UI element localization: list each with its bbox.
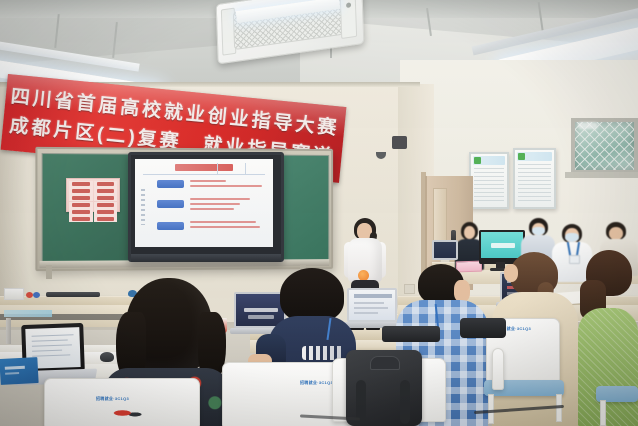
leaf-icon xyxy=(474,157,481,164)
attendee-green-top xyxy=(578,308,638,426)
attendee-cheek xyxy=(504,264,518,282)
blue-ball-marker xyxy=(33,292,40,298)
dark-bag-2 xyxy=(382,326,440,342)
wall-poster-1 xyxy=(469,152,509,209)
tablet-line xyxy=(32,334,74,336)
face-mask-icon xyxy=(565,233,579,242)
tablet-line xyxy=(32,344,72,346)
slide-text-line xyxy=(190,226,260,228)
dark-bag xyxy=(460,318,506,338)
slide-text-line xyxy=(190,203,240,205)
chair-back[interactable] xyxy=(492,348,504,390)
booklet-line xyxy=(5,372,19,375)
attendee-ear-cheek xyxy=(454,280,470,302)
judge-laptop-1[interactable] xyxy=(432,240,458,260)
slide-tag xyxy=(157,200,184,208)
wall-poster-2 xyxy=(513,148,556,209)
poster-text-block xyxy=(518,164,551,204)
blackboard-character-chart xyxy=(66,178,120,212)
judge-face xyxy=(464,226,475,239)
slide-text-line xyxy=(190,185,262,187)
blackboard-leg-left xyxy=(46,265,52,279)
slide-divider xyxy=(217,163,218,174)
backpack-handle xyxy=(370,356,400,370)
slide-title-bar xyxy=(175,164,233,171)
tablet-line xyxy=(32,339,68,341)
chair-logo-icon xyxy=(108,406,144,420)
face-mask-icon xyxy=(532,227,545,235)
interactive-whiteboard-screen[interactable] xyxy=(128,152,284,262)
chart-cell xyxy=(69,202,93,222)
whiteboard-slide-content xyxy=(135,159,273,247)
slide-tag xyxy=(157,180,184,188)
tablet-line xyxy=(32,350,62,352)
desk-label-sticker xyxy=(4,310,52,317)
chair-back-label: 招聘就业·3C1Q3 xyxy=(96,396,129,402)
attendee-hair xyxy=(280,268,344,322)
poster-text-block xyxy=(474,168,504,204)
chart-cell xyxy=(94,202,118,222)
whiteboard-bezel-bottom xyxy=(131,254,281,262)
leaf-icon xyxy=(518,153,525,160)
window-sill xyxy=(565,172,638,178)
classroom-photo-scene: 四川省首届高校就业创业指导大赛 成都片区(二)复赛就业指导赛道 xyxy=(0,0,638,426)
tissue-box xyxy=(4,288,24,300)
chair-leg xyxy=(600,400,606,426)
slide-rule xyxy=(143,174,265,175)
slide-divider xyxy=(245,163,246,174)
slide-text-line xyxy=(190,180,226,182)
slide-tag xyxy=(157,222,184,230)
slide-text-line xyxy=(190,198,250,200)
window-glare xyxy=(578,122,598,129)
monitor-screen-text xyxy=(491,243,515,248)
backpack-strap xyxy=(400,380,410,424)
booklet-title-line xyxy=(5,366,25,370)
desk-leg xyxy=(6,318,11,344)
blackboard-panel-right xyxy=(279,155,329,262)
chart-cell xyxy=(94,181,118,201)
wall-speaker-icon xyxy=(392,136,407,149)
keyboard-icon[interactable] xyxy=(46,292,100,297)
slide-text-line xyxy=(190,221,256,223)
slide-side-index xyxy=(141,189,145,225)
tablet-line xyxy=(32,354,70,356)
chart-cell xyxy=(69,181,93,201)
chair-back-label: 招聘就业·3C1Q3 xyxy=(300,380,333,386)
slide-text-line xyxy=(190,208,234,210)
blue-booklet xyxy=(0,357,39,385)
backpack xyxy=(346,350,422,426)
window-grille-icon xyxy=(575,122,634,170)
red-ball-marker xyxy=(26,292,33,298)
